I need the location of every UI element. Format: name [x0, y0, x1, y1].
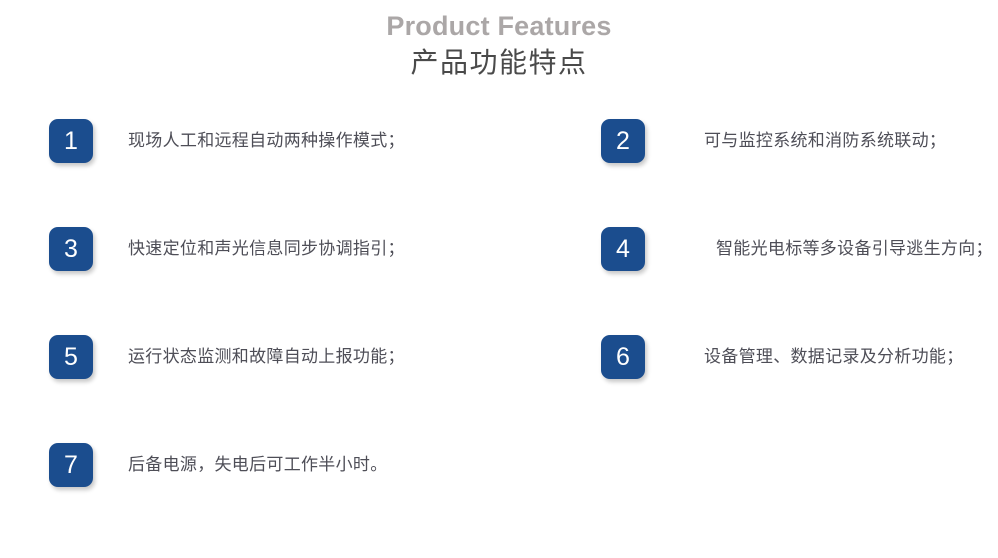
feature-number-badge-6: 6: [601, 335, 645, 379]
feature-text-2: 可与监控系统和消防系统联动；: [704, 119, 946, 153]
feature-item-2: 2 可与监控系统和消防系统联动；: [601, 119, 946, 163]
page-title-english: Product Features: [0, 10, 998, 42]
feature-number-badge-4: 4: [601, 227, 645, 271]
feature-number-badge-2: 2: [601, 119, 645, 163]
feature-text-1: 现场人工和远程自动两种操作模式；: [128, 119, 405, 153]
feature-item-4: 4 智能光电标等多设备引导逃生方向；: [601, 227, 993, 271]
page-title-chinese: 产品功能特点: [0, 44, 998, 82]
feature-number-badge-1: 1: [49, 119, 93, 163]
feature-text-3: 快速定位和声光信息同步协调指引；: [128, 227, 405, 261]
feature-number-badge-7: 7: [49, 443, 93, 487]
feature-item-1: 1 现场人工和远程自动两种操作模式；: [49, 119, 405, 163]
feature-text-4: 智能光电标等多设备引导逃生方向；: [716, 227, 993, 261]
feature-item-3: 3 快速定位和声光信息同步协调指引；: [49, 227, 405, 271]
feature-number-badge-5: 5: [49, 335, 93, 379]
product-features-page: Product Features 产品功能特点 1 现场人工和远程自动两种操作模…: [0, 0, 998, 558]
feature-text-6: 设备管理、数据记录及分析功能；: [704, 335, 964, 369]
feature-item-6: 6 设备管理、数据记录及分析功能；: [601, 335, 964, 379]
feature-item-5: 5 运行状态监测和故障自动上报功能；: [49, 335, 405, 379]
feature-text-7: 后备电源，失电后可工作半小时。: [128, 443, 388, 477]
feature-item-7: 7 后备电源，失电后可工作半小时。: [49, 443, 388, 487]
page-header: Product Features 产品功能特点: [0, 0, 998, 82]
feature-text-5: 运行状态监测和故障自动上报功能；: [128, 335, 405, 369]
feature-number-badge-3: 3: [49, 227, 93, 271]
